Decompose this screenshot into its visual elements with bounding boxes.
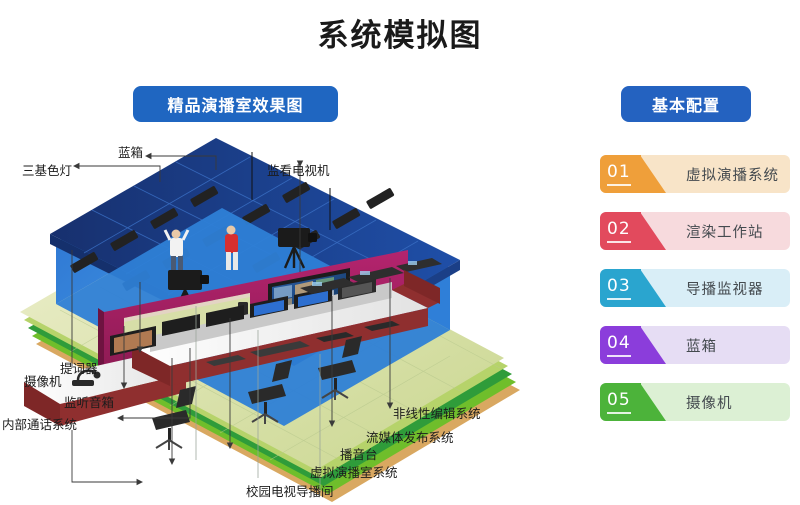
basic-config-badge-label: 基本配置 <box>652 92 720 116</box>
config-badge-wedge-icon <box>640 269 666 307</box>
config-number-01: 01 <box>607 162 631 186</box>
callout-three-primary-light: 三基色灯 <box>22 160 72 179</box>
config-badge-wedge-icon <box>640 155 666 193</box>
config-badge-wedge-icon <box>640 326 666 364</box>
callout-camera: 摄像机 <box>24 371 62 390</box>
callout-intercom-system: 内部通话系统 <box>2 414 77 433</box>
studio-rendering-badge-label: 精品演播室效果图 <box>167 92 303 116</box>
callout-blue-box: 蓝箱 <box>118 142 143 161</box>
studio-3d-illustration: 三基色灯蓝箱监看电视机提词器摄像机监听音箱内部通话系统非线性编辑系统流媒体发布系… <box>0 130 545 505</box>
config-label-01: 虚拟演播系统 <box>686 155 779 193</box>
config-label-02: 渲染工作站 <box>686 212 764 250</box>
config-number-02: 02 <box>607 219 631 243</box>
config-label-04: 蓝箱 <box>686 326 717 364</box>
config-row-05[interactable]: 05摄像机 <box>600 383 790 421</box>
config-number-04: 04 <box>607 333 631 357</box>
config-badge-wedge-icon <box>640 383 666 421</box>
callout-teleprompter: 提词器 <box>60 358 98 377</box>
callout-nonlinear-editing: 非线性编辑系统 <box>393 403 481 422</box>
config-badge-wedge-icon <box>640 212 666 250</box>
config-row-03[interactable]: 03导播监视器 <box>600 269 790 307</box>
config-number-05: 05 <box>607 390 631 414</box>
config-row-04[interactable]: 04蓝箱 <box>600 326 790 364</box>
callout-streaming-publish: 流媒体发布系统 <box>366 427 454 446</box>
callout-monitor-tv: 监看电视机 <box>267 160 330 179</box>
config-label-05: 摄像机 <box>686 383 733 421</box>
basic-config-badge: 基本配置 <box>621 86 751 122</box>
page-root: 系统模拟图 精品演播室效果图 基本配置 01虚拟演播系统02渲染工作站03导播监… <box>0 0 800 505</box>
callout-monitor-speaker: 监听音箱 <box>64 392 114 411</box>
page-title: 系统模拟图 <box>0 10 800 55</box>
callout-campus-tv-control: 校园电视导播间 <box>246 481 334 500</box>
callout-virtual-studio: 虚拟演播室系统 <box>310 462 398 481</box>
config-label-03: 导播监视器 <box>686 269 764 307</box>
callout-broadcast-desk: 播音台 <box>340 444 378 463</box>
studio-rendering-badge: 精品演播室效果图 <box>133 86 338 122</box>
config-row-02[interactable]: 02渲染工作站 <box>600 212 790 250</box>
config-number-03: 03 <box>607 276 631 300</box>
config-row-01[interactable]: 01虚拟演播系统 <box>600 155 790 193</box>
